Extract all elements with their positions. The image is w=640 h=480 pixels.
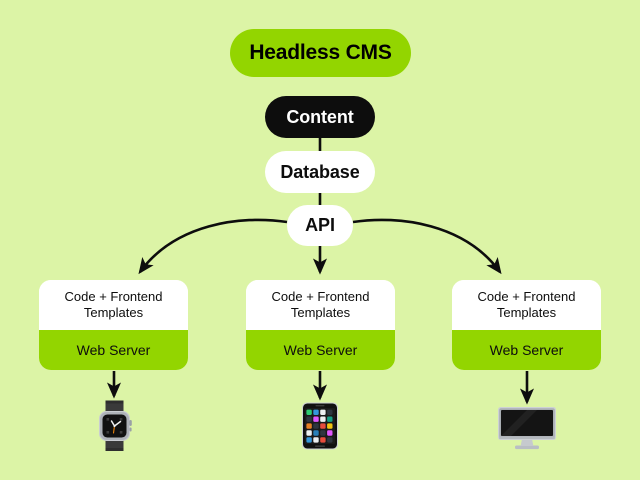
diagram-title: Headless CMS [230, 29, 411, 77]
node-database: Database [265, 151, 375, 193]
node-content: Content [265, 96, 375, 138]
desktop-icon [497, 406, 557, 450]
stack-card-left: Code + Frontend Templates Web Server [39, 280, 188, 370]
diagram-canvas: Headless CMS Content Database API Code +… [0, 0, 640, 480]
stack-card-right: Code + Frontend Templates Web Server [452, 280, 601, 370]
stack-card-bottom-label: Web Server [39, 330, 188, 370]
stack-card-top-label: Code + Frontend Templates [246, 280, 395, 330]
stack-card-middle: Code + Frontend Templates Web Server [246, 280, 395, 370]
connector-api-to-right-stack [353, 220, 500, 272]
phone-icon [301, 402, 339, 450]
stack-card-top-label: Code + Frontend Templates [39, 280, 188, 330]
node-api: API [287, 205, 353, 246]
stack-card-bottom-label: Web Server [246, 330, 395, 370]
connector-api-to-left-stack [140, 220, 287, 272]
stack-card-top-label: Code + Frontend Templates [452, 280, 601, 330]
watch-icon [92, 400, 137, 452]
stack-card-bottom-label: Web Server [452, 330, 601, 370]
